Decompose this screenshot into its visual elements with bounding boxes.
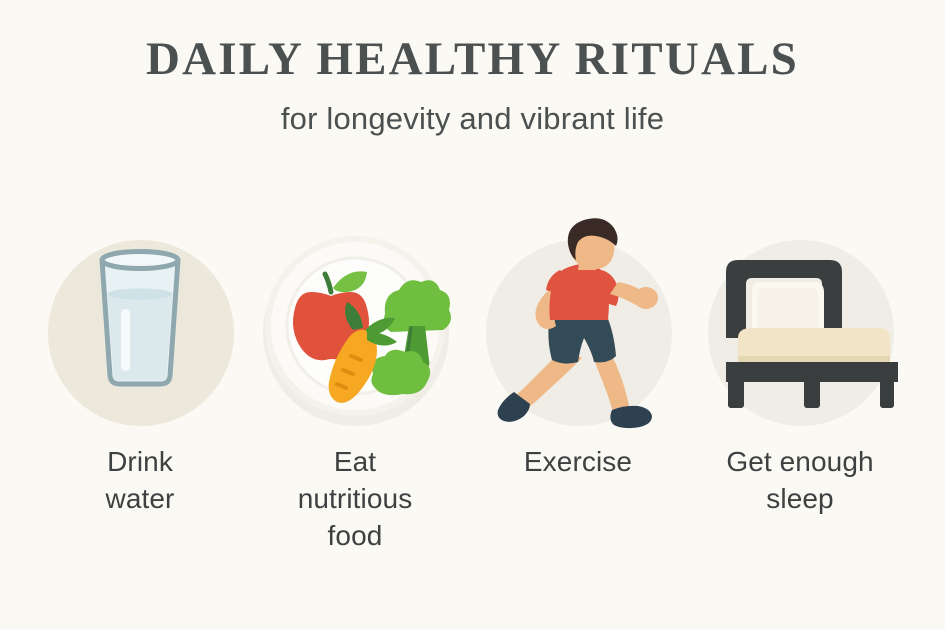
label-line: Drink bbox=[22, 444, 258, 481]
poster-header: DAILY HEALTHY RITUALS for longevity and … bbox=[0, 34, 945, 136]
plate-of-food-icon bbox=[237, 210, 473, 442]
infographic-poster: DAILY HEALTHY RITUALS for longevity and … bbox=[0, 0, 945, 630]
page-title: DAILY HEALTHY RITUALS bbox=[0, 34, 945, 86]
water-glass-icon bbox=[22, 210, 258, 442]
icon-container-food bbox=[237, 232, 473, 432]
ritual-item-get-enough-sleep: Get enough sleep bbox=[682, 232, 918, 592]
ritual-label-get-enough-sleep: Get enough sleep bbox=[682, 444, 918, 518]
label-line: nutritious bbox=[237, 481, 473, 518]
label-line: Exercise bbox=[460, 444, 696, 481]
label-line: sleep bbox=[682, 481, 918, 518]
label-line: food bbox=[237, 518, 473, 555]
running-person-icon bbox=[460, 210, 696, 442]
bed-icon bbox=[682, 210, 918, 442]
ritual-item-exercise: Exercise bbox=[460, 232, 696, 592]
icon-container-sleep bbox=[682, 232, 918, 432]
ritual-item-eat-nutritious-food: Eat nutritious food bbox=[237, 232, 473, 592]
page-subtitle: for longevity and vibrant life bbox=[0, 102, 945, 136]
ritual-label-eat-nutritious-food: Eat nutritious food bbox=[237, 444, 473, 555]
label-line: water bbox=[22, 481, 258, 518]
ritual-item-drink-water: Drink water bbox=[22, 232, 258, 592]
rituals-row: Drink water bbox=[0, 232, 945, 592]
icon-container-water bbox=[22, 232, 258, 432]
label-line: Eat bbox=[237, 444, 473, 481]
label-line: Get enough bbox=[682, 444, 918, 481]
ritual-label-exercise: Exercise bbox=[460, 444, 696, 481]
ritual-label-drink-water: Drink water bbox=[22, 444, 258, 518]
icon-container-exercise bbox=[460, 232, 696, 432]
